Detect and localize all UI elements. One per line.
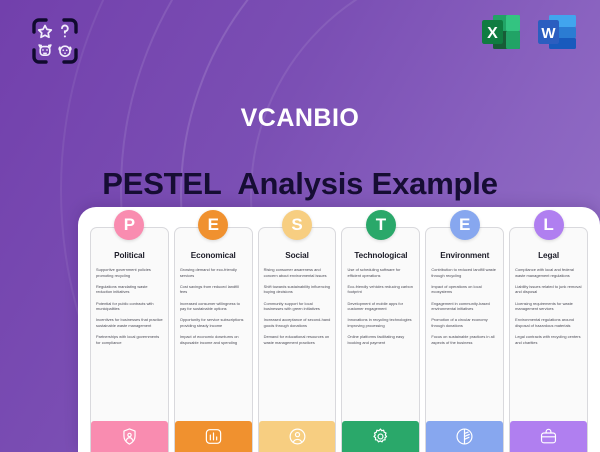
column-bullets: Contribution to reduced landfill waste t… (426, 265, 503, 421)
column-badge: E (450, 210, 480, 240)
bullet-item: Online platforms facilitating easy booki… (347, 334, 414, 345)
pestel-column-political[interactable]: PPoliticalSupportive government policies… (90, 227, 169, 452)
bullet-item: Environmental regulations around disposa… (515, 317, 582, 328)
bullet-item: Eco-friendly vehicles reducing carbon fo… (347, 284, 414, 295)
bullet-item: Licensing requirements for waste managem… (515, 301, 582, 312)
bullet-item: Compliance with local and federal waste … (515, 267, 582, 278)
bullet-item: Liability issues related to junk removal… (515, 284, 582, 295)
person-circle-icon (288, 427, 307, 446)
bullet-item: Use of scheduling software for efficient… (347, 267, 414, 278)
svg-text:X: X (487, 25, 498, 42)
leaf-icon (455, 427, 474, 446)
column-title: Environment (426, 245, 503, 265)
bullet-item: Community support for local businesses w… (264, 301, 331, 312)
bullet-item: Potential for public contracts with muni… (96, 301, 163, 312)
svg-text:W: W (541, 25, 556, 42)
page-title: VCANBIO (0, 104, 600, 133)
pestel-column-environment[interactable]: EEnvironmentContribution to reduced land… (425, 227, 504, 452)
main-heading-rest: Analysis Example (237, 166, 497, 201)
bullet-item: Incentives for businesses that practice … (96, 317, 163, 328)
column-title: Social (259, 245, 336, 265)
column-bullets: Compliance with local and federal waste … (510, 265, 587, 421)
bullet-item: Legal contracts with recycling centers a… (515, 334, 582, 345)
main-heading: PESTEL Analysis Example (0, 166, 600, 202)
bullet-item: Development of mobile apps for customer … (347, 301, 414, 312)
pestel-column-legal[interactable]: LLegalCompliance with local and federal … (509, 227, 588, 452)
column-footer (175, 421, 252, 452)
briefcase-icon (539, 427, 558, 446)
column-title: Economical (175, 245, 252, 265)
slide-canvas: X W VCANBIO PESTEL Analysis Example PPol… (0, 0, 600, 452)
column-title: Technological (342, 245, 419, 265)
column-bullets: Rising consumer awareness and concern ab… (259, 265, 336, 421)
bullet-item: Demand for educational resources on wast… (264, 334, 331, 345)
bullet-item: Increased consumer willingness to pay fo… (180, 301, 247, 312)
pestel-column-social[interactable]: SSocialRising consumer awareness and con… (258, 227, 337, 452)
column-bullets: Supportive government policies promoting… (91, 265, 168, 421)
column-bullets: Use of scheduling software for efficient… (342, 265, 419, 421)
bullet-item: Engagement in community-based environmen… (431, 301, 498, 312)
bullet-item: Opportunity for service subscriptions pr… (180, 317, 247, 328)
bullet-item: Impact of operations on local ecosystems (431, 284, 498, 295)
column-footer (91, 421, 168, 452)
bullet-item: Rising consumer awareness and concern ab… (264, 267, 331, 278)
bullet-item: Cost savings from reduced landfill fees (180, 284, 247, 295)
column-footer (510, 421, 587, 452)
main-heading-bold: PESTEL (102, 166, 221, 201)
column-badge: P (114, 210, 144, 240)
pestel-columns: PPoliticalSupportive government policies… (90, 227, 588, 452)
bullet-item: Regulations mandating waste reduction in… (96, 284, 163, 295)
column-footer (426, 421, 503, 452)
office-app-icons: X W (480, 11, 578, 53)
bullet-item: Supportive government policies promoting… (96, 267, 163, 278)
excel-icon[interactable]: X (480, 11, 522, 53)
column-footer (342, 421, 419, 452)
bullet-item: Partnerships with local governments for … (96, 334, 163, 345)
column-badge: T (366, 210, 396, 240)
pestel-column-economical[interactable]: EEconomicalGrowing demand for eco-friend… (174, 227, 253, 452)
column-title: Political (91, 245, 168, 265)
word-icon[interactable]: W (536, 11, 578, 53)
gear-icon (371, 427, 390, 446)
bullet-item: Impact of economic downturns on disposab… (180, 334, 247, 345)
column-badge: S (282, 210, 312, 240)
column-badge: L (534, 210, 564, 240)
animal-grid-logo-icon (28, 14, 82, 68)
bullet-item: Contribution to reduced landfill waste t… (431, 267, 498, 278)
column-badge: E (198, 210, 228, 240)
pestel-column-technological[interactable]: TTechnologicalUse of scheduling software… (341, 227, 420, 452)
bullet-item: Promotion of a circular economy through … (431, 317, 498, 328)
pestel-card: PPoliticalSupportive government policies… (78, 207, 600, 452)
bullet-item: Growing demand for eco-friendly services (180, 267, 247, 278)
bar-chart-icon (204, 427, 223, 446)
bullet-item: Innovations in recycling technologies im… (347, 317, 414, 328)
column-bullets: Growing demand for eco-friendly services… (175, 265, 252, 421)
column-footer (259, 421, 336, 452)
column-title: Legal (510, 245, 587, 265)
shield-person-icon (120, 427, 139, 446)
bullet-item: Focus on sustainable practices in all as… (431, 334, 498, 345)
bullet-item: Shift towards sustainability influencing… (264, 284, 331, 295)
bullet-item: Increased acceptance of second-hand good… (264, 317, 331, 328)
